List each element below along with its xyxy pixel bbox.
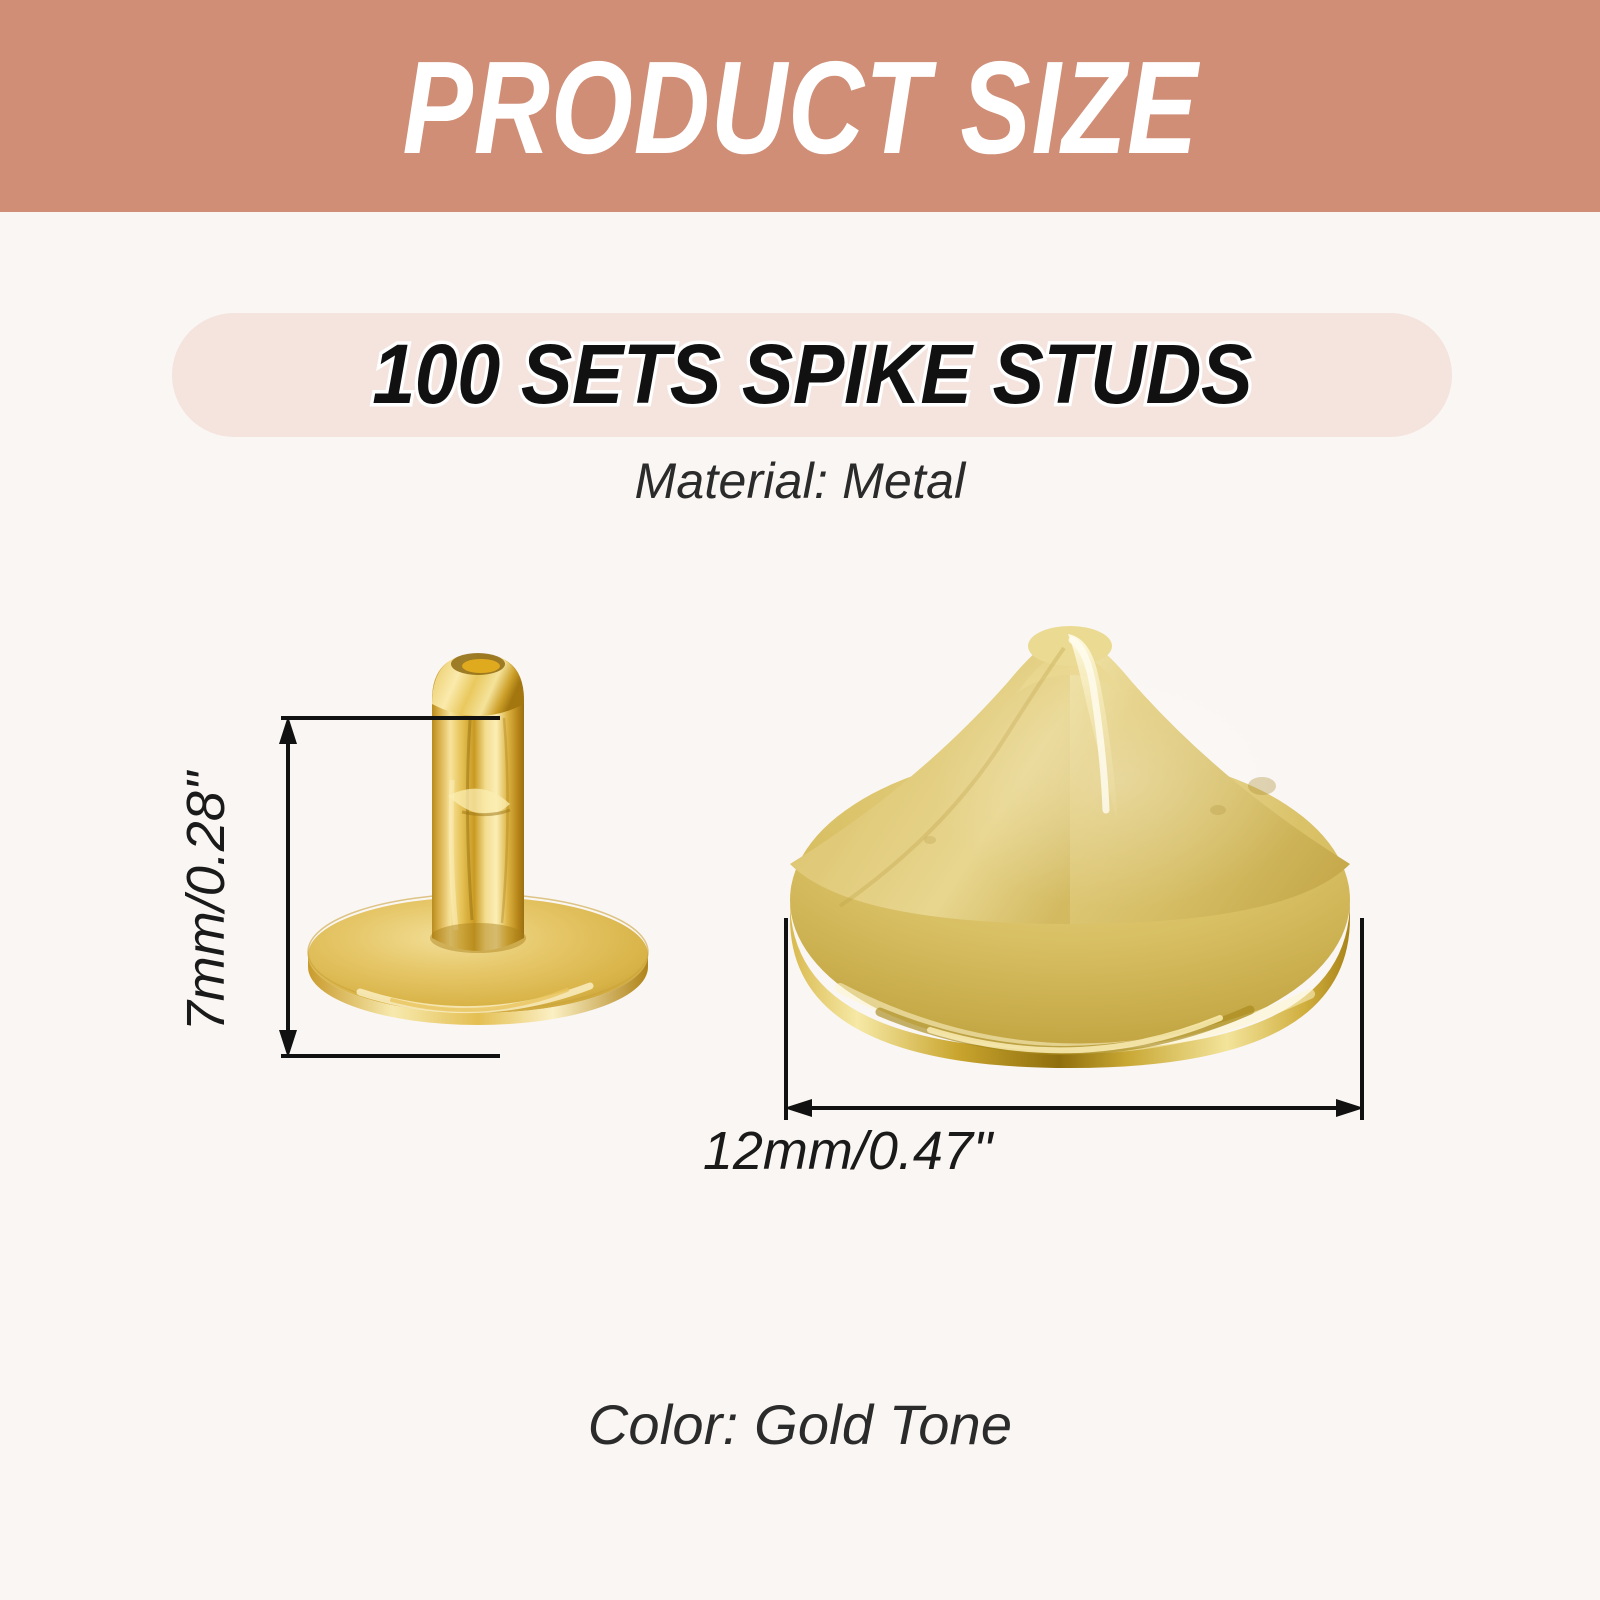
product-image-cone-spike [790,626,1350,1068]
material-spec: Material: Metal [0,452,1600,510]
dimension-width-label: 12mm/0.47" [0,1120,1600,1182]
banner-title: PRODUCT SIZE [402,42,1198,174]
header-banner: PRODUCT SIZE [0,0,1600,212]
headline-title: 100 SETS SPIKE STUDS [372,332,1252,416]
color-spec: Color: Gold Tone [0,1392,1600,1457]
product-image-rivet-post [308,653,648,1025]
dimension-height-label: 7mm/0.28" [175,513,237,772]
headline-pill: 100 SETS SPIKE STUDS [172,313,1452,437]
